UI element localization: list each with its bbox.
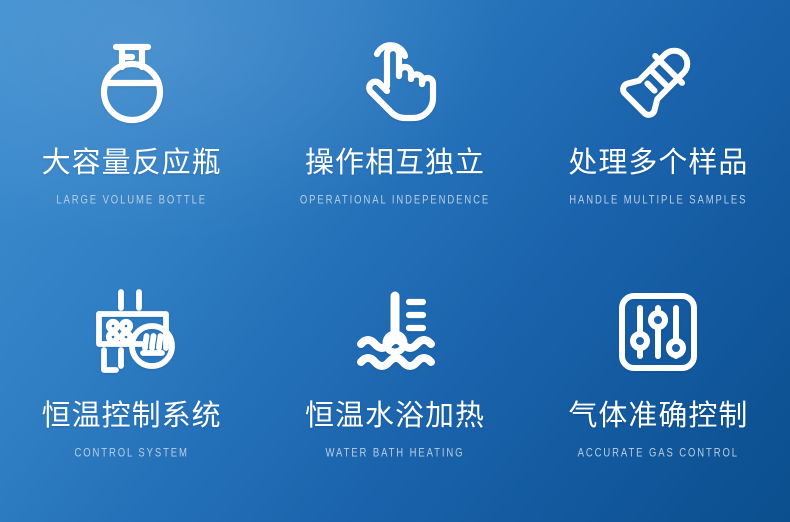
feature-item-operational-independence[interactable]: 操作相互独立 OPERATIONAL INDEPENDENCE [263,14,526,268]
feature-title-cn: 处理多个样品 [568,149,748,178]
feature-item-control-system[interactable]: 恒温控制系统 CONTROL SYSTEM [0,268,263,522]
feature-grid: 大容量反应瓶 LARGE VOLUME BOTTLE 操作相互独立 OPERAT… [0,0,790,522]
tap-hand-icon [349,32,441,128]
feature-banner: 大容量反应瓶 LARGE VOLUME BOTTLE 操作相互独立 OPERAT… [0,0,790,522]
feature-title-en: WATER BATH HEATING [326,448,465,460]
feature-item-water-bath-heating[interactable]: 恒温水浴加热 WATER BATH HEATING [263,268,526,522]
feature-title-cn: 气体准确控制 [568,402,748,431]
round-bottom-flask-icon [86,32,178,128]
feature-item-accurate-gas-control[interactable]: 气体准确控制 ACCURATE GAS CONTROL [527,268,790,522]
feature-title-en: OPERATIONAL INDEPENDENCE [300,195,490,207]
feature-title-cn: 恒温水浴加热 [305,402,485,431]
pipette-dropper-icon [612,32,704,128]
feature-title-en: LARGE VOLUME BOTTLE [56,195,207,207]
thermometer-water-bath-icon [349,286,441,378]
feature-title-en: ACCURATE GAS CONTROL [578,448,739,460]
feature-title-en: CONTROL SYSTEM [74,448,188,460]
control-panel-heater-icon [82,286,182,378]
feature-title-en: HANDLE MULTIPLE SAMPLES [569,195,747,207]
slider-controls-icon [612,286,704,378]
feature-title-cn: 大容量反应瓶 [42,149,222,178]
feature-item-handle-multiple-samples[interactable]: 处理多个样品 HANDLE MULTIPLE SAMPLES [527,14,790,268]
feature-title-cn: 操作相互独立 [305,149,485,178]
feature-item-large-volume-bottle[interactable]: 大容量反应瓶 LARGE VOLUME BOTTLE [0,14,263,268]
feature-title-cn: 恒温控制系统 [42,402,222,431]
